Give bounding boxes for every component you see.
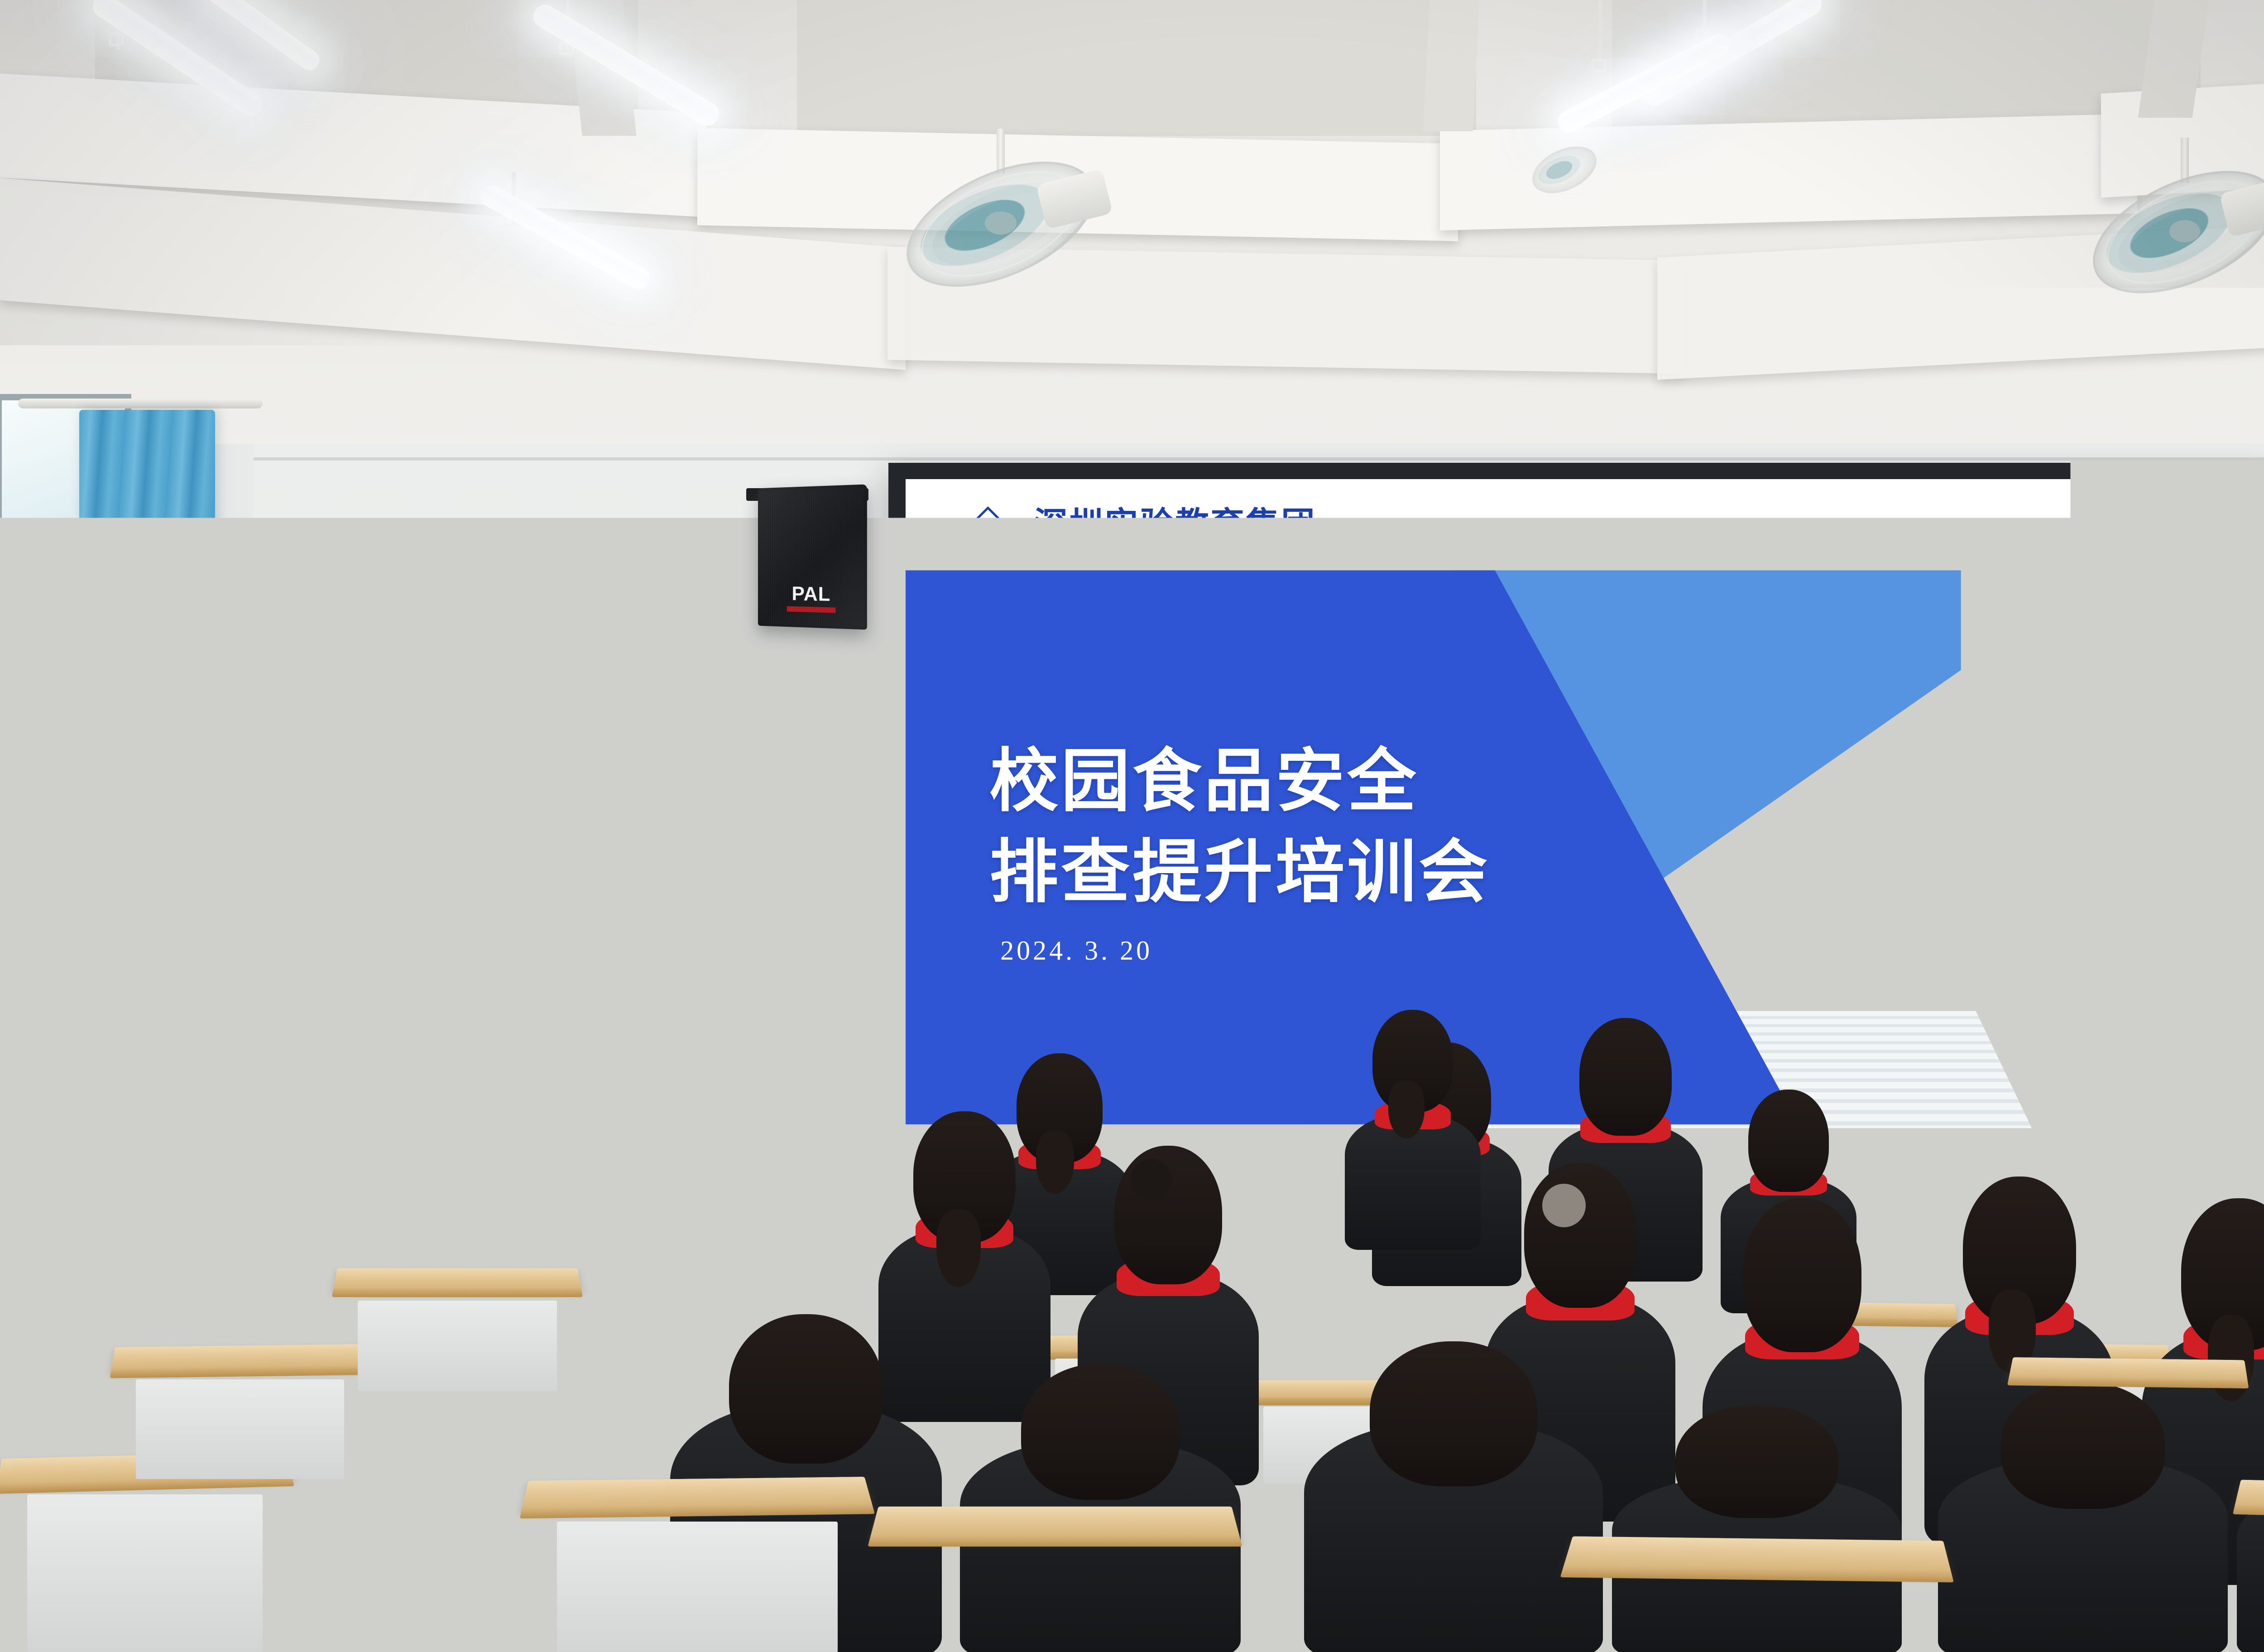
- presenter-mouth: [625, 805, 651, 815]
- clock-face: [2094, 652, 2137, 686]
- person-head: [1524, 1163, 1636, 1308]
- lecture-room-photo: 深圳实验学校 光明部: [0, 0, 2264, 1652]
- audience-member: [1345, 996, 1481, 1250]
- person-head: [1743, 1198, 1861, 1352]
- audience-member: [1938, 1381, 2228, 1652]
- fan-hub: [985, 211, 1017, 235]
- presenter: [541, 720, 740, 1137]
- person-head: [1675, 1405, 1838, 1518]
- presenter-nose: [630, 788, 642, 804]
- person-head: [2001, 1382, 2165, 1509]
- ceiling-fan: [901, 172, 1100, 276]
- ponytail: [440, 1112, 485, 1192]
- marker-pen[interactable]: [854, 993, 878, 1003]
- szsy-diamond-icon: SZSY: [962, 511, 1022, 554]
- ponytail: [75, 1112, 119, 1188]
- student-desk: [2008, 1357, 2248, 1383]
- cabinet-vent: [303, 927, 525, 938]
- slide-logo: SZSY 深圳实验教育集团 SHENZHEN EXPERIMENTAL EDUC…: [962, 508, 1338, 558]
- logo-wordmark: 深圳实验教育集团 SHENZHEN EXPERIMENTAL EDUCATION…: [1034, 508, 1338, 558]
- desk-frame: [136, 1379, 344, 1479]
- student-desk: [111, 1344, 369, 1373]
- desk-top: [1562, 1537, 1952, 1577]
- audience-member: [1612, 1404, 1902, 1652]
- student-desk: [521, 1477, 873, 1513]
- hair-bun: [1130, 1159, 1172, 1201]
- audience-member: [1304, 1340, 1603, 1652]
- speaker-brand-label: PAL: [758, 582, 867, 614]
- ceiling-beam-cross: [1423, 0, 1479, 131]
- desk-edge: [868, 1540, 1242, 1546]
- desk-frame: [27, 1494, 263, 1652]
- light-clip: [109, 33, 124, 46]
- ceiling-pocket: [797, 0, 1476, 136]
- ceiling-fan: [2087, 181, 2264, 283]
- student-desk: [869, 1507, 1241, 1541]
- logo-english-name: SHENZHEN EXPERIMENTAL EDUCATION GROUP: [1034, 545, 1338, 558]
- tower-clock-icon: [2086, 645, 2146, 692]
- presenter-ear: [588, 769, 602, 794]
- person-head: [1114, 1146, 1222, 1284]
- fan-rod: [997, 129, 1005, 174]
- slide-date: 2024. 3. 20: [1000, 935, 1152, 966]
- curtain-rod: [18, 399, 263, 408]
- audience-member: [2237, 1422, 2264, 1652]
- slide-title: 校园食品安全 排查提升培训会: [989, 736, 1490, 917]
- tower-emblem: [2079, 709, 2150, 724]
- logo-chinese-name: 深圳实验教育集团: [1034, 508, 1338, 541]
- slide-title-line1: 校园食品安全: [989, 736, 1490, 827]
- diamond-mark-text: SZSY: [962, 511, 1022, 554]
- ponytail: [1388, 1081, 1425, 1138]
- person-head: [1021, 1364, 1180, 1500]
- person-head: [239, 1109, 350, 1253]
- light-clip: [1591, 59, 1607, 72]
- cabinet-lock-icon[interactable]: [388, 956, 400, 968]
- person-head: [1370, 1341, 1537, 1486]
- person-head: [1748, 1090, 1829, 1192]
- presenter-ear: [681, 769, 694, 794]
- presenter-eye: [652, 773, 669, 778]
- wireless-router: [308, 874, 435, 902]
- desk-edge: [332, 1290, 583, 1297]
- hair-bun: [1542, 1184, 1586, 1227]
- student-desk: [333, 1268, 582, 1292]
- presenter-brow: [608, 764, 629, 768]
- sanitizer-pump[interactable]: [461, 850, 482, 867]
- fan-hub: [2169, 220, 2201, 243]
- desk-top: [869, 1507, 1241, 1541]
- presenter-brow: [651, 764, 672, 768]
- wall-trim: [254, 457, 2264, 461]
- slide-title-line2: 排查提升培训会: [989, 827, 1490, 918]
- student-desk: [1562, 1537, 1952, 1577]
- person-head: [729, 1314, 883, 1464]
- presenter-eye: [610, 773, 626, 778]
- wall-speaker-left: PAL: [758, 484, 867, 629]
- ponytail: [2109, 1102, 2150, 1170]
- ponytail: [936, 1209, 981, 1287]
- desk-frame: [358, 1301, 557, 1391]
- person-head: [1579, 1018, 1672, 1136]
- window-mullion: [56, 710, 68, 1058]
- ceiling-fan: [1530, 149, 1598, 190]
- desk-top: [333, 1268, 582, 1292]
- fan-rod: [2181, 138, 2189, 183]
- desk-frame: [557, 1522, 838, 1652]
- tower-side-windows: [2056, 671, 2067, 881]
- presenter-hair: [590, 715, 691, 774]
